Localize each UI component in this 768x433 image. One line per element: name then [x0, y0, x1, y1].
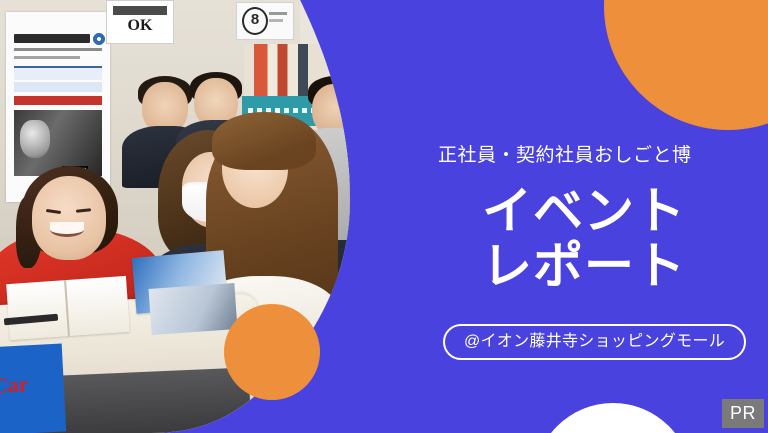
blue-car-sign-label: Car [0, 371, 29, 399]
event-photo-image: OK 8 [0, 0, 390, 433]
smile [50, 222, 84, 237]
poster-logo-icon [92, 32, 106, 46]
event-report-banner: OK 8 [0, 0, 768, 433]
ok-sign: OK [106, 0, 174, 44]
poster-photo [14, 110, 102, 176]
event-photo: OK 8 [0, 0, 390, 433]
head [32, 176, 106, 260]
venue-pill: @イオン藤井寺ショッピングモール [443, 324, 746, 360]
page-title: イベント レポート [438, 184, 730, 294]
title-line-1: イベント [438, 184, 730, 239]
orange-circle-bottom-left-icon [224, 304, 320, 400]
white-circle-bottom-icon [534, 403, 692, 433]
ok-sign-line [113, 6, 167, 15]
flyers-stack-secondary [149, 283, 238, 335]
poster-company-name [14, 34, 90, 43]
poster-band [14, 82, 102, 92]
poster-line [14, 48, 102, 51]
booth-number-label: 8 [242, 7, 268, 35]
poster-highlight-bar [14, 96, 102, 105]
ok-sign-label: OK [107, 17, 173, 35]
poster-band [14, 66, 102, 80]
orange-circle-top-right-icon [604, 0, 768, 130]
booth-sign-line [269, 19, 283, 22]
poster-line [14, 56, 80, 59]
hair-front [212, 112, 316, 170]
title-line-2: レポート [438, 239, 730, 294]
booth-sign-line [269, 12, 287, 15]
open-notebook [6, 276, 130, 340]
pr-badge: PR [722, 399, 764, 428]
blue-car-sign: Car [0, 343, 66, 433]
booth-number-sign: 8 [236, 2, 294, 40]
banner-subtitle: 正社員・契約社員おしごと博 [438, 143, 728, 169]
